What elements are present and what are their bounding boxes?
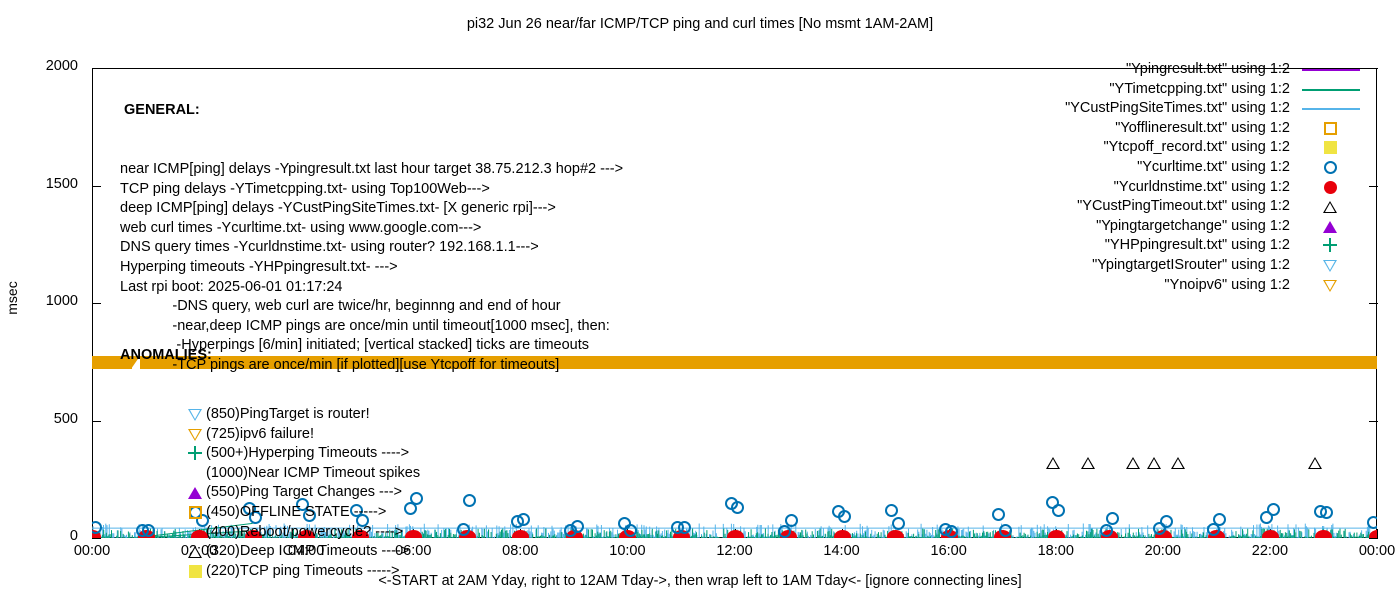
legend-label: "Ypingtargetchange" using 1:2 <box>1096 218 1290 234</box>
general-line: near ICMP[ping] delays -Ypingresult.txt … <box>120 160 623 180</box>
curl-time-marker <box>1160 515 1173 528</box>
curl-time-marker <box>571 520 584 533</box>
general-line: Last rpi boot: 2025-06-01 01:17:24 <box>120 278 623 298</box>
general-line: DNS query times -Ycurldnstime.txt- using… <box>120 238 623 258</box>
legend-label: "Ynoipv6" using 1:2 <box>1164 277 1290 293</box>
dns-query-marker <box>727 530 744 538</box>
anomaly-row: (725)ipv6 failure! <box>120 425 420 445</box>
triangle-down-lightblue-icon <box>188 407 203 422</box>
triangle-down-orange-icon <box>188 427 203 442</box>
curl-time-marker <box>678 521 691 534</box>
legend-label: "Ycurldnstime.txt" using 1:2 <box>1114 179 1290 195</box>
x-tick-label-0800: 08:00 <box>485 543 555 559</box>
curl-time-marker <box>517 513 530 526</box>
page-title: pi32 Jun 26 near/far ICMP/TCP ping and c… <box>0 16 1400 32</box>
legend-swatch-none <box>1302 80 1364 100</box>
anomaly-row: (550)Ping Target Changes ---> <box>120 483 420 503</box>
curl-time-marker <box>731 501 744 514</box>
anomaly-label: (450)OFFLINE STATE -----> <box>206 504 386 520</box>
anomaly-label: (220)TCP ping Timeouts -----> <box>206 563 400 579</box>
legend-swatch-circle-open <box>1302 158 1364 178</box>
legend-item[interactable]: "Ytcpoff_record.txt" using 1:2 <box>1065 138 1290 158</box>
anomaly-label: (320)Deep ICMP Timeouts ----> <box>206 543 409 559</box>
legend-swatch-circle-filled <box>1302 178 1364 198</box>
deep-icmp-timeout-marker <box>1308 457 1322 469</box>
legend-label: "Ytcpoff_record.txt" using 1:2 <box>1103 139 1290 155</box>
legend-item[interactable]: "Ypingresult.txt" using 1:2 <box>1065 60 1290 80</box>
legend-item[interactable]: "Ycurltime.txt" using 1:2 <box>1065 158 1290 178</box>
legend-item[interactable]: "Yofflineresult.txt" using 1:2 <box>1065 119 1290 139</box>
y-tick-mark-right <box>1369 538 1378 539</box>
legend-label: "YCustPingTimeout.txt" using 1:2 <box>1077 198 1290 214</box>
dns-query-marker <box>834 530 851 538</box>
curl-time-marker <box>785 514 798 527</box>
x-tick-label-0000: 00:00 <box>1342 543 1400 559</box>
deep-icmp-timeout-marker <box>1147 457 1161 469</box>
anomaly-label: (550)Ping Target Changes ---> <box>206 484 402 500</box>
x-tick-label-1600: 16:00 <box>914 543 984 559</box>
y-tick-label-2000: 2000 <box>0 58 78 74</box>
x-tick-label-2200: 22:00 <box>1235 543 1305 559</box>
x-tick-label-1200: 12:00 <box>700 543 770 559</box>
anomaly-row: (220)TCP ping Timeouts -----> <box>120 562 420 582</box>
general-line: deep ICMP[ping] delays -YCustPingSiteTim… <box>120 199 623 219</box>
x-tick-label-1400: 14:00 <box>807 543 877 559</box>
anomaly-label: (500+)Hyperping Timeouts ----> <box>206 445 409 461</box>
x-tick-label-1800: 18:00 <box>1021 543 1091 559</box>
general-line: web curl times -Ycurltime.txt- using www… <box>120 219 623 239</box>
legend-label: "YHPpingresult.txt" using 1:2 <box>1105 237 1290 253</box>
legend-swatch-triangle-down-open <box>1302 276 1364 296</box>
x-tick-label-2000: 20:00 <box>1128 543 1198 559</box>
legend-swatch-triangle-up-open <box>1302 197 1364 217</box>
legend-item[interactable]: "YCustPingSiteTimes.txt" using 1:2 <box>1065 99 1290 119</box>
legend-swatch-none <box>1302 99 1364 119</box>
y-tick-label-500: 500 <box>0 411 78 427</box>
curl-time-marker <box>1367 516 1377 529</box>
legend-swatch-plus <box>1302 236 1364 256</box>
anomalies-header: ANOMALIES: <box>120 346 420 366</box>
legend-label: "Yofflineresult.txt" using 1:2 <box>1115 120 1290 136</box>
general-header: GENERAL: <box>120 101 623 121</box>
legend: "Ypingresult.txt" using 1:2"YTimetcpping… <box>1065 60 1290 295</box>
legend-item[interactable]: "Ycurldnstime.txt" using 1:2 <box>1065 178 1290 198</box>
anomaly-row: (320)Deep ICMP Timeouts ----> <box>120 542 420 562</box>
curl-time-marker <box>999 524 1012 537</box>
legend-item[interactable]: "Ynoipv6" using 1:2 <box>1065 276 1290 296</box>
y-tick-label-0: 0 <box>0 528 78 544</box>
anomalies-annotation-block: ANOMALIES: (850)PingTarget is router!(72… <box>120 307 420 601</box>
curl-time-marker <box>1100 524 1113 537</box>
legend-label: "YpingtargetISrouter" using 1:2 <box>1092 257 1290 273</box>
curl-time-marker <box>1106 512 1119 525</box>
legend-label: "YTimetcpping.txt" using 1:2 <box>1109 81 1290 97</box>
legend-item[interactable]: "YTimetcpping.txt" using 1:2 <box>1065 80 1290 100</box>
deep-icmp-timeout-marker <box>1046 457 1060 469</box>
plus-green-icon <box>188 446 203 461</box>
curl-time-marker <box>892 517 905 530</box>
legend-swatch-triangle-up-filled <box>1302 217 1364 237</box>
anomaly-row: (850)PingTarget is router! <box>120 405 420 425</box>
square-filled-yellow-icon <box>188 564 203 579</box>
legend-label: "Ypingresult.txt" using 1:2 <box>1126 61 1290 77</box>
square-open-orange-icon <box>188 505 203 520</box>
x-tick-mark <box>1377 529 1378 538</box>
anomaly-row: (400)Reboot/powercycle? ----> <box>120 523 420 543</box>
anomaly-row: (1000)Near ICMP Timeout spikes <box>120 464 420 484</box>
y-tick-label-1000: 1000 <box>0 293 78 309</box>
anomaly-row: (500+)Hyperping Timeouts ----> <box>120 444 420 464</box>
legend-item[interactable]: "Ypingtargetchange" using 1:2 <box>1065 217 1290 237</box>
legend-label: "YCustPingSiteTimes.txt" using 1:2 <box>1065 100 1290 116</box>
deep-icmp-timeout-marker <box>1126 457 1140 469</box>
y-tick-mark <box>92 538 101 539</box>
anomaly-label: (850)PingTarget is router! <box>206 406 370 422</box>
x-tick-label-1000: 10:00 <box>592 543 662 559</box>
anomaly-label: (1000)Near ICMP Timeout spikes <box>206 465 420 481</box>
legend-item[interactable]: "YHPpingresult.txt" using 1:2 <box>1065 236 1290 256</box>
anomaly-label: (725)ipv6 failure! <box>206 426 314 442</box>
general-line: Hyperping timeouts -YHPpingresult.txt- -… <box>120 258 623 278</box>
general-line: TCP ping delays -YTimetcpping.txt- using… <box>120 180 623 200</box>
legend-label: "Ycurltime.txt" using 1:2 <box>1137 159 1290 175</box>
anomaly-row: (450)OFFLINE STATE -----> <box>120 503 420 523</box>
legend-item[interactable]: "YpingtargetISrouter" using 1:2 <box>1065 256 1290 276</box>
curl-time-marker <box>945 525 958 538</box>
deep-icmp-timeout-marker <box>1171 457 1185 469</box>
triangle-up-purple-icon <box>188 485 203 500</box>
dns-query-marker <box>1048 530 1065 538</box>
x-tick-label-0000: 00:00 <box>57 543 127 559</box>
curl-time-marker <box>457 523 470 536</box>
legend-swatch-square-filled <box>1302 138 1364 158</box>
y-tick-label-1500: 1500 <box>0 176 78 192</box>
legend-item[interactable]: "YCustPingTimeout.txt" using 1:2 <box>1065 197 1290 217</box>
anomaly-label: (400)Reboot/powercycle? ----> <box>206 524 403 540</box>
triangle-up-black-icon <box>188 544 203 559</box>
curl-time-marker <box>1267 503 1280 516</box>
legend-swatch-triangle-down-open <box>1302 256 1364 276</box>
deep-icmp-timeout-marker <box>1081 457 1095 469</box>
legend-swatch-square-open <box>1302 119 1364 139</box>
legend-swatch-none <box>1302 60 1364 80</box>
